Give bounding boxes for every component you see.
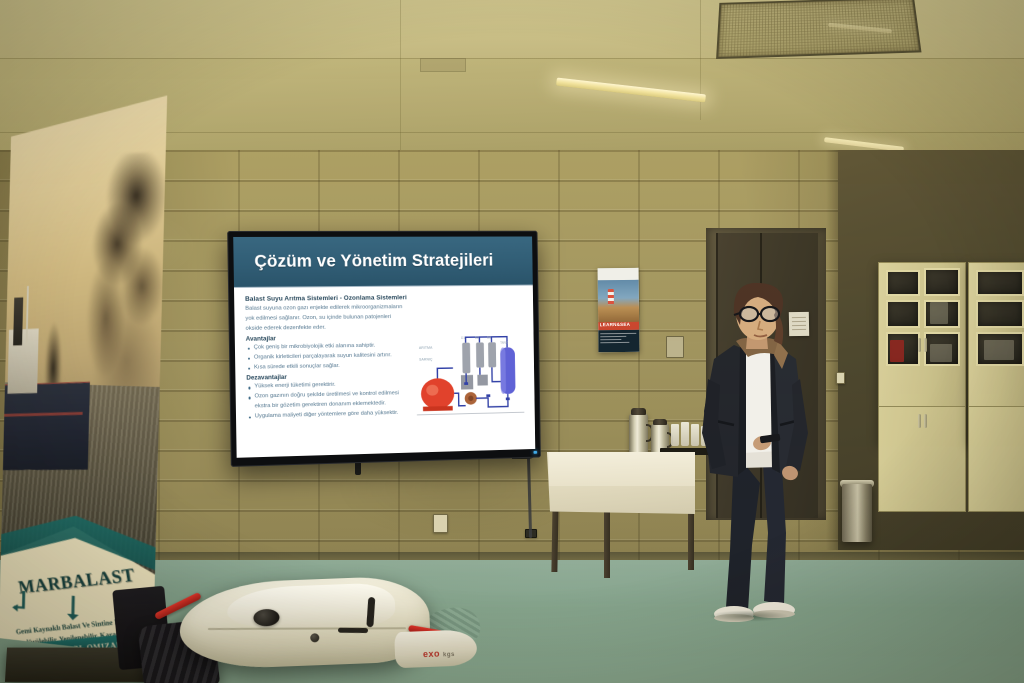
kayak-slot xyxy=(338,628,368,633)
slide-title: Çözüm ve Yönetim Stratejileri xyxy=(233,250,493,272)
cabinet-handle[interactable] xyxy=(924,414,927,428)
svg-text:D1: D1 xyxy=(461,336,465,340)
lighthouse-icon xyxy=(608,289,615,304)
thermos-lid xyxy=(631,408,646,415)
poster-brand: LEARN&SEA xyxy=(600,322,638,327)
cup-stack xyxy=(671,424,679,446)
slide: Çözüm ve Yönetim Stratejileri Balast Suy… xyxy=(233,236,535,457)
waste-bin xyxy=(842,484,872,542)
cabinet-handle[interactable] xyxy=(918,338,921,352)
tv-wall-mount xyxy=(355,463,361,475)
wall-poster: LEARN&SEA xyxy=(598,268,640,352)
diagram-label: SARNIÇ xyxy=(419,358,432,362)
cabinet-glass-pane xyxy=(886,300,920,328)
tv-display-area: Çözüm ve Yönetim Stratejileri Balast Suy… xyxy=(233,236,535,457)
banner-ship-hull xyxy=(0,382,90,470)
poster-text-lines xyxy=(601,332,636,345)
cabinet-content xyxy=(930,302,948,324)
power-led-icon xyxy=(533,451,537,454)
ceiling-seam xyxy=(0,58,1024,59)
cabinet-base[interactable] xyxy=(968,406,1024,512)
presentation-screen[interactable]: Çözüm ve Yönetim Stratejileri Balast Suy… xyxy=(227,231,541,467)
svg-text:TANK: TANK xyxy=(500,340,508,344)
svg-text:D2: D2 xyxy=(475,336,479,340)
kayak-hull: exo kgs xyxy=(130,566,464,683)
cabinet-glass-pane xyxy=(976,300,1024,328)
wall-box xyxy=(666,336,684,358)
thermos-lid xyxy=(653,419,667,425)
kayak-brand-label: exo kgs xyxy=(423,648,455,659)
ship-smoke xyxy=(41,265,69,396)
cup-stack xyxy=(681,422,689,446)
cabinet-base[interactable] xyxy=(878,406,966,512)
svg-text:D3: D3 xyxy=(487,335,491,339)
cabinet-glass-pane xyxy=(976,270,1024,296)
slide-diagram: D1D2D3 TANK ARITMA SARNIÇ xyxy=(411,301,528,450)
cabinet-content xyxy=(984,340,1014,360)
banner-smoke xyxy=(70,151,167,421)
slide-intro-paragraph: Balast suyuna ozon gazı enjekte edilerek… xyxy=(245,303,408,334)
cabinet-handle[interactable] xyxy=(918,414,921,428)
diagram-label: ARITMA xyxy=(419,346,432,350)
rollup-banner: MARBALAST Gemi Kaynaklı Balast Ve Sintin… xyxy=(0,95,167,655)
wall-outlet[interactable] xyxy=(433,514,448,533)
ceiling-panel xyxy=(420,58,466,72)
slide-body: Balast Suyu Arıtma Sistemleri - Ozonlama… xyxy=(245,293,528,455)
person-shadow xyxy=(694,608,804,624)
cabinet-handle[interactable] xyxy=(924,338,927,352)
ship-funnel xyxy=(13,297,23,346)
cabinet-glass-pane xyxy=(924,268,960,296)
cabinet-content xyxy=(930,344,952,362)
ceiling-light xyxy=(556,78,706,103)
poster-image xyxy=(598,280,639,324)
slide-heading: Balast Suyu Arıtma Sistemleri - Ozonlama… xyxy=(245,294,407,302)
slide-text-column: Balast Suyu Arıtma Sistemleri - Ozonlama… xyxy=(245,294,410,455)
ceiling-seam xyxy=(400,0,401,150)
cabinet-content xyxy=(890,340,904,362)
poster-header xyxy=(598,268,639,280)
table-top xyxy=(549,452,695,486)
slide-title-bar: Çözüm ve Yönetim Stratejileri xyxy=(233,236,533,286)
cabinet-glass-pane xyxy=(886,270,920,296)
room-scene: MARBALAST Gemi Kaynaklı Balast Ve Sintin… xyxy=(0,0,1024,683)
presenter-person xyxy=(690,283,826,633)
wall-outlet[interactable] xyxy=(836,372,845,384)
